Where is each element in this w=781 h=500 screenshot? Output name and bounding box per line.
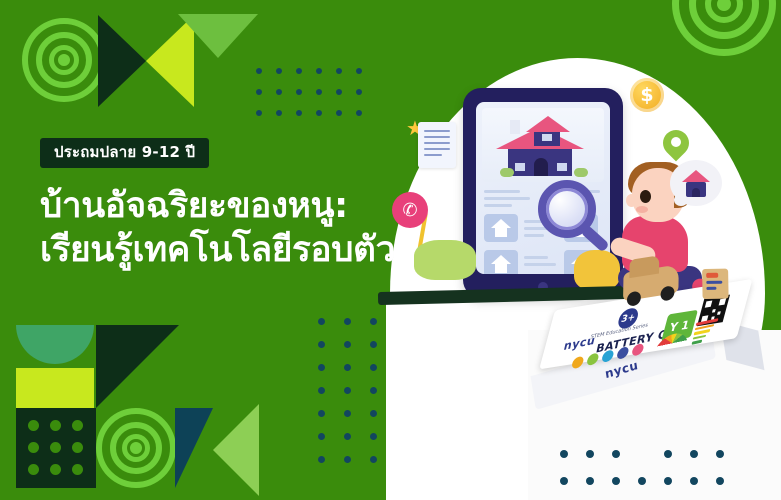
concentric-rings-top-left (22, 18, 106, 102)
plant-bush-icon (414, 240, 476, 280)
phone-icon: ✆ (392, 192, 428, 228)
dark-teal-triangle-bottom (175, 408, 213, 488)
wooden-circuit-board (702, 269, 729, 299)
dot-grid-top (256, 68, 366, 118)
age-badge: ประถมปลาย 9-12 ปี (40, 138, 209, 168)
location-pin-icon (663, 130, 689, 156)
light-green-triangle-top (178, 14, 258, 58)
lime-rectangle-bottom-left (16, 368, 94, 408)
light-green-triangle-bottom (213, 404, 259, 496)
dark-triangle-top-left (98, 15, 146, 107)
page-title: บ้านอัจฉริยะของหนู: เรียนรู้เทคโนโลยีรอบ… (40, 184, 395, 272)
dot-grid-vertical (318, 318, 378, 468)
headline-line-2: เรียนรู้เทคโนโลยีรอบตัว (40, 228, 395, 272)
plant-yellow-left-icon (574, 250, 620, 290)
teal-semicircle-bottom-left (16, 325, 94, 364)
dark-triangle-bottom-left (96, 325, 179, 408)
headline-line-1: บ้านอัจฉริยะของหนู: (40, 186, 348, 226)
house-speech-bubble (670, 160, 722, 206)
coin-icon: $ (630, 78, 664, 112)
dark-square-dot-panel (16, 408, 96, 488)
magnifying-glass-icon (538, 180, 596, 238)
dot-row-bottom (560, 450, 760, 490)
promo-banner: ประถมปลาย 9-12 ปี บ้านอัจฉริยะของหนู: เร… (0, 0, 781, 500)
illustration: $ ✆ ★ (378, 0, 781, 500)
text-block: ประถมปลาย 9-12 ปี บ้านอัจฉริยะของหนู: เร… (40, 138, 395, 272)
house-hero-image (482, 108, 604, 182)
document-icon (418, 122, 456, 168)
listing-card[interactable] (484, 250, 518, 274)
concentric-rings-bottom-left (96, 408, 176, 488)
listing-card[interactable] (484, 214, 518, 242)
